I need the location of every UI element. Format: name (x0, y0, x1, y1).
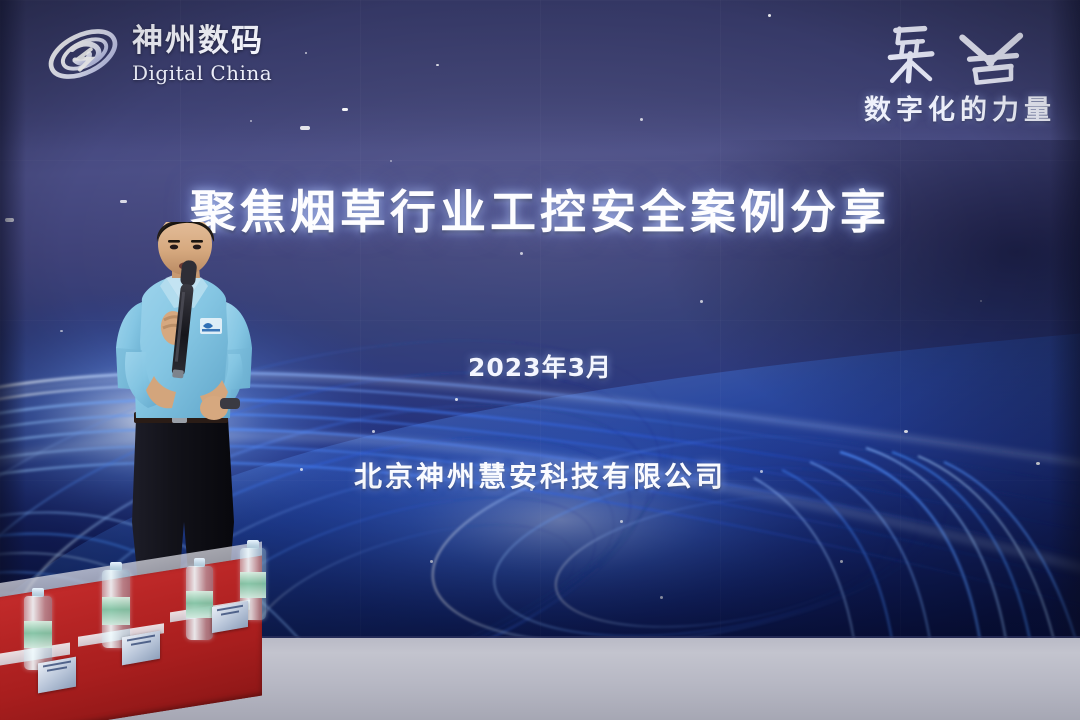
slogan-subtitle: 数字化的力量 (864, 88, 1056, 127)
bottle-label (24, 621, 52, 648)
presenter-clicker-icon (220, 398, 240, 409)
digital-china-swirl-icon (44, 18, 122, 90)
juhe-calligraphy-icon (876, 16, 1056, 88)
brand-logo: 神州数码 Digital China (44, 18, 272, 90)
conference-photo: 神州数码 Digital China (0, 0, 1080, 720)
event-slogan: 数字化的力量 (864, 16, 1056, 127)
bottle-label (186, 591, 213, 618)
foreground-head-table (0, 560, 294, 720)
water-bottle (186, 566, 213, 640)
bottle-label (102, 597, 130, 625)
brand-name-cn: 神州数码 (132, 26, 272, 57)
brand-name-en: Digital China (132, 63, 272, 83)
water-bottle (24, 596, 52, 670)
bottle-label (240, 572, 266, 598)
shirt-logo-badge-icon (200, 318, 222, 334)
